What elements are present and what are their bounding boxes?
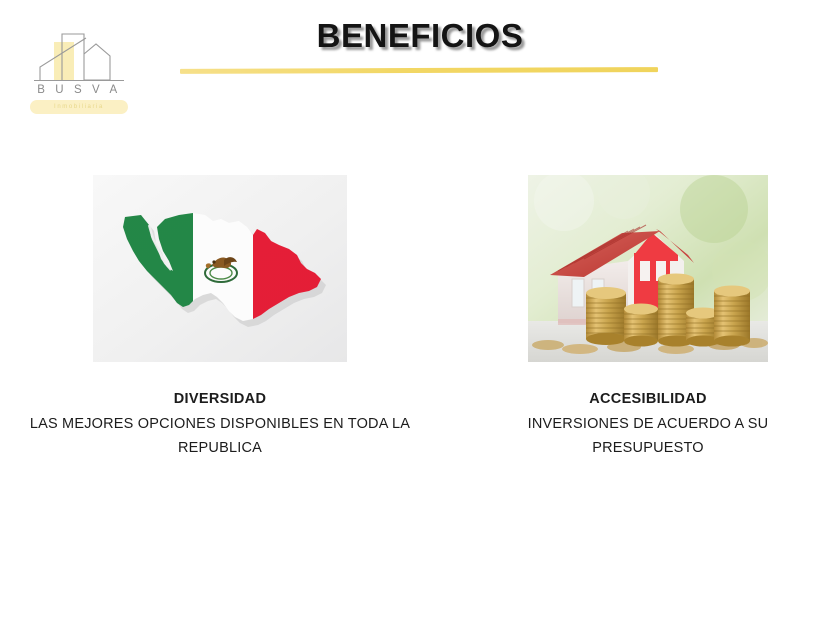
house-and-coins-image — [528, 175, 768, 362]
page-title: BENEFICIOS — [180, 17, 660, 55]
building-outline-icon — [24, 26, 134, 88]
benefit-body: LAS MEJORES OPCIONES DISPONIBLES EN TODA… — [23, 412, 417, 460]
benefit-card-diversidad: DIVERSIDAD LAS MEJORES OPCIONES DISPONIB… — [93, 175, 347, 362]
benefit-heading: DIVERSIDAD — [23, 387, 417, 411]
benefit-body: INVERSIONES DE ACUERDO A SU PRESUPUESTO — [480, 412, 816, 460]
slide-canvas: B U S V A Inmobiliaria BENEFICIOS — [0, 0, 840, 630]
mexico-map-flag-image — [93, 175, 347, 362]
title-underline-rule — [180, 67, 658, 74]
logo-wordmark: B U S V A — [24, 84, 134, 96]
benefit-caption-accesibilidad: ACCESIBILIDAD INVERSIONES DE ACUERDO A S… — [480, 387, 816, 460]
logo-tagline: Inmobiliaria — [30, 101, 128, 113]
benefit-caption-diversidad: DIVERSIDAD LAS MEJORES OPCIONES DISPONIB… — [23, 387, 417, 460]
benefit-heading: ACCESIBILIDAD — [480, 387, 816, 411]
busva-logo: B U S V A Inmobiliaria — [24, 26, 134, 118]
benefit-card-accesibilidad: ACCESIBILIDAD INVERSIONES DE ACUERDO A S… — [528, 175, 768, 362]
